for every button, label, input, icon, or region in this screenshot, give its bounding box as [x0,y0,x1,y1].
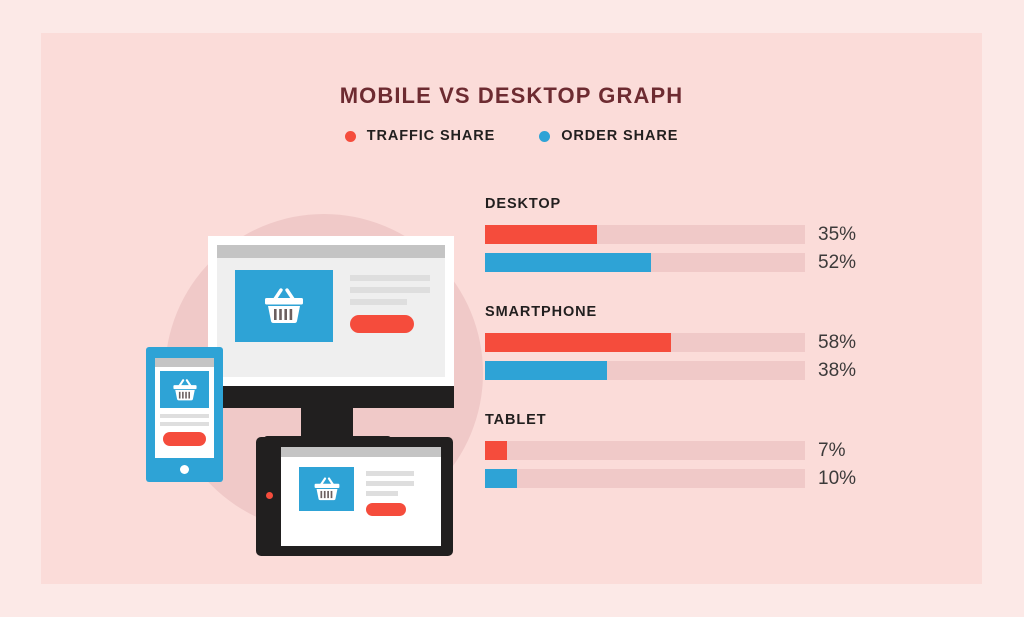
bar-value-label: 10% [818,469,856,488]
monitor-text-line [350,287,430,293]
legend-dot-icon [345,131,356,142]
monitor-cta-button[interactable] [350,315,414,333]
bar-row: 38% [485,361,915,380]
tablet-cta-button[interactable] [366,503,406,516]
bar-fill-order [485,469,517,488]
bar-group-label: DESKTOP [485,196,915,212]
tablet-browser-bar [281,447,441,457]
bar-row: 35% [485,225,915,244]
bar-fill-traffic [485,333,671,352]
bar-fill-order [485,253,651,272]
smartphone-text-line [160,414,209,418]
tablet-camera-dot [266,492,273,499]
legend-item-traffic-share: TRAFFIC SHARE [345,128,496,144]
bar-fill-traffic [485,225,597,244]
bar-value-label: 52% [818,253,856,272]
desktop-monitor [208,236,454,386]
infographic-card: MOBILE VS DESKTOP GRAPH TRAFFIC SHARE OR… [41,33,982,584]
tablet [256,437,453,556]
bar-row: 52% [485,253,915,272]
bar-track [485,333,805,352]
bar-value-label: 7% [818,441,845,460]
bar-value-label: 38% [818,361,856,380]
bar-track [485,361,805,380]
bar-group-label: SMARTPHONE [485,304,915,320]
monitor-text-line [350,299,407,305]
bar-track [485,441,805,460]
infographic-canvas: MOBILE VS DESKTOP GRAPH TRAFFIC SHARE OR… [0,0,1024,617]
tablet-text-line [366,491,398,496]
smartphone-cta-button[interactable] [163,432,206,446]
tablet-screen [281,447,441,546]
smartphone-text-line [160,422,209,426]
shopping-basket-icon [312,476,342,502]
tablet-product-image [299,467,354,511]
legend-item-order-share: ORDER SHARE [539,128,678,144]
tablet-text-line [366,481,414,486]
monitor-text-line [350,275,430,281]
page-title: MOBILE VS DESKTOP GRAPH [41,83,982,109]
tablet-text-line [366,471,414,476]
bar-row: 58% [485,333,915,352]
devices-illustration [120,178,490,568]
smartphone-home-button[interactable] [180,465,189,474]
monitor-browser-bar [217,245,445,258]
bar-track [485,225,805,244]
legend-dot-icon [539,131,550,142]
smartphone [146,347,223,482]
bar-row: 7% [485,441,915,460]
bar-value-label: 35% [818,225,856,244]
bar-row: 10% [485,469,915,488]
bar-fill-traffic [485,441,507,460]
bar-group-label: TABLET [485,412,915,428]
shopping-basket-icon [261,287,307,325]
smartphone-product-image [160,371,209,408]
smartphone-status-bar [155,358,214,367]
bar-fill-order [485,361,607,380]
bar-group-smartphone: SMARTPHONE 58% 38% [485,304,915,380]
legend-label-traffic-share: TRAFFIC SHARE [367,128,496,144]
bar-group-desktop: DESKTOP 35% 52% [485,196,915,272]
legend-label-order-share: ORDER SHARE [561,128,678,144]
monitor-bezel-bottom [208,386,454,408]
monitor-screen [217,245,445,377]
chart-legend: TRAFFIC SHARE ORDER SHARE [41,128,982,144]
bar-track [485,253,805,272]
bar-group-tablet: TABLET 7% 10% [485,412,915,488]
smartphone-screen [155,358,214,458]
monitor-product-image [235,270,333,342]
shopping-basket-icon [171,378,199,402]
bar-chart: DESKTOP 35% 52% SMARTPHONE [485,196,915,488]
bar-track [485,469,805,488]
bar-value-label: 58% [818,333,856,352]
